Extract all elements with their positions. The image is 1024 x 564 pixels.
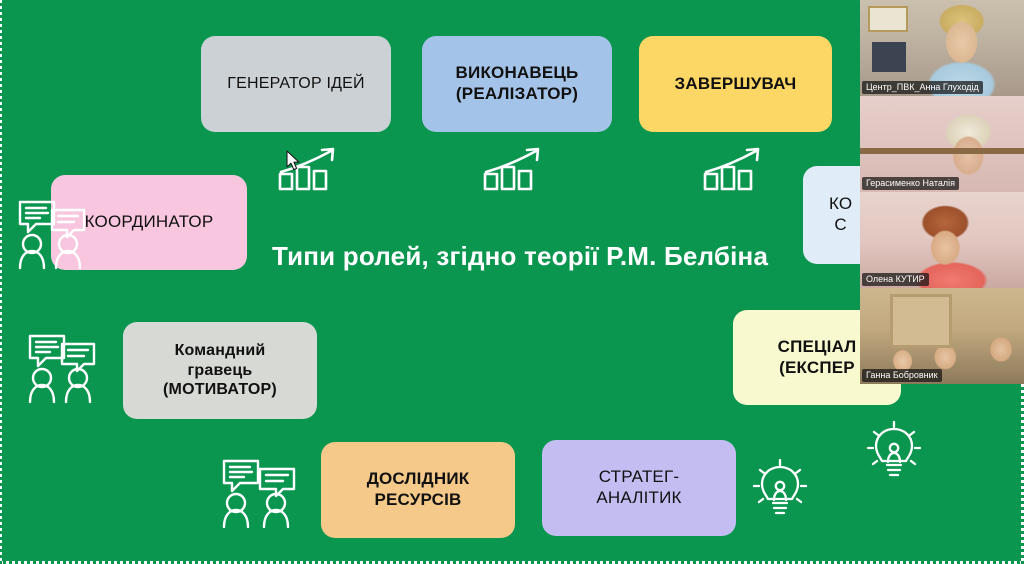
role-box-vykonavets[interactable]: ВИКОНАВЕЦЬ (РЕАЛІЗАТОР): [422, 36, 612, 132]
video-tile[interactable]: Центр_ПВК_Анна Глуходід: [860, 0, 1024, 96]
lightbulb-person-icon: [866, 420, 922, 484]
role-box-label: ЗАВЕРШУВАЧ: [675, 74, 797, 95]
participant-name: Олена КУТИР: [862, 273, 929, 286]
page-title: Типи ролей, згідно теорії Р.М. Белбіна: [272, 241, 768, 272]
role-box-doslidnyk[interactable]: ДОСЛІДНИК РЕСУРСІВ: [321, 442, 515, 538]
video-tile[interactable]: Олена КУТИР: [860, 192, 1024, 288]
participant-name: Герасименко Наталія: [862, 177, 959, 190]
participant-name: Ганна Бобровник: [862, 369, 942, 382]
people-chat-icon: [22, 330, 108, 404]
lightbulb-person-icon: [752, 458, 808, 522]
role-box-label: КО С: [829, 194, 852, 235]
video-tile[interactable]: Герасименко Наталія: [860, 96, 1024, 192]
screen-share-stage: ГЕНЕРАТОР ІДЕЙ ВИКОНАВЕЦЬ (РЕАЛІЗАТОР) З…: [0, 0, 1024, 564]
role-box-label: ГЕНЕРАТОР ІДЕЙ: [227, 74, 364, 94]
video-tile[interactable]: Ганна Бобровник: [860, 288, 1024, 384]
share-border-left: [0, 0, 2, 564]
role-box-koordynator[interactable]: КООРДИНАТОР: [51, 175, 247, 270]
role-box-zavershuvach[interactable]: ЗАВЕРШУВАЧ: [639, 36, 832, 132]
role-box-generator[interactable]: ГЕНЕРАТОР ІДЕЙ: [201, 36, 391, 132]
role-box-label: Командний гравець (МОТИВАТОР): [163, 341, 277, 400]
participant-name: Центр_ПВК_Анна Глуходід: [862, 81, 983, 94]
role-box-label: СПЕЦІАЛ (ЕКСПЕР: [778, 337, 857, 378]
growth-chart-icon: [702, 146, 764, 192]
role-box-label: СТРАТЕГ- АНАЛІТИК: [596, 467, 681, 508]
role-box-komandnyi-gravets[interactable]: Командний гравець (МОТИВАТОР): [123, 322, 317, 419]
video-participant-strip[interactable]: Центр_ПВК_Анна Глуходід Герасименко Ната…: [860, 0, 1024, 384]
role-box-label: ДОСЛІДНИК РЕСУРСІВ: [367, 469, 470, 510]
role-box-label: КООРДИНАТОР: [85, 212, 214, 233]
growth-chart-icon: [482, 146, 544, 192]
role-box-label: ВИКОНАВЕЦЬ (РЕАЛІЗАТОР): [456, 63, 579, 104]
role-box-strateg[interactable]: СТРАТЕГ- АНАЛІТИК: [542, 440, 736, 536]
people-chat-icon: [216, 455, 308, 529]
mouse-cursor: [286, 150, 302, 172]
